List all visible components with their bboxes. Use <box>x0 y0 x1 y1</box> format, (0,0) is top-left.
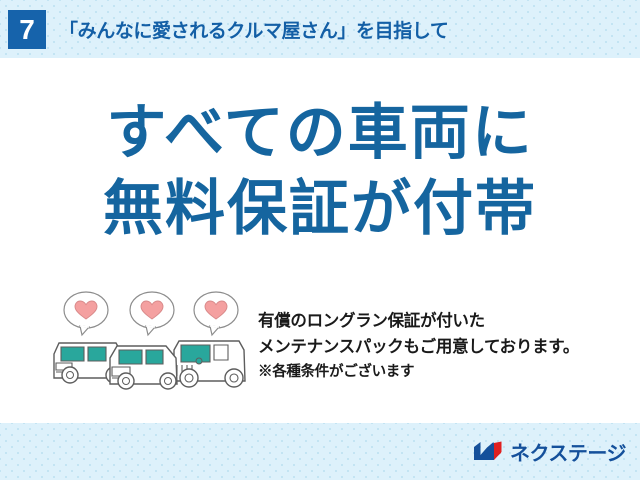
body-copy-block: 有償のロングラン保証が付いた メンテナンスパックもご用意しております。 ※各種条… <box>258 308 628 384</box>
heart-speech-bubble-1 <box>64 292 108 335</box>
step-number-badge: 7 <box>8 10 46 49</box>
brand-name: ネクステージ <box>510 437 626 466</box>
banner-header: 7 「みんなに愛されるクルマ屋さん」を目指して <box>0 0 640 58</box>
brand-logo: ネクステージ <box>473 437 626 465</box>
body-copy-note: ※各種条件がございます <box>258 360 628 384</box>
heart-speech-bubble-3 <box>194 292 238 335</box>
car-suv <box>174 341 245 387</box>
nexstage-n-mark-icon <box>473 440 503 462</box>
body-copy-line-1: 有償のロングラン保証が付いた <box>258 308 628 334</box>
headline-line-1: すべての車両に <box>0 95 640 171</box>
body-copy-line-2: メンテナンスパックもご用意しております。 <box>258 334 628 360</box>
heart-speech-bubble-2 <box>130 292 174 335</box>
car-compact-van <box>110 346 177 389</box>
headline-line-2: 無料保証が付帯 <box>0 171 640 247</box>
promo-banner: 7 「みんなに愛されるクルマ屋さん」を目指して すべての車両に 無料保証が付帯 <box>0 0 640 480</box>
headline-block: すべての車両に 無料保証が付帯 <box>0 95 640 247</box>
three-cars-with-heart-bubbles-illustration <box>48 288 253 400</box>
lower-section: 有償のロングラン保証が付いた メンテナンスパックもご用意しております。 ※各種条… <box>0 286 640 416</box>
header-title: 「みんなに愛されるクルマ屋さん」を目指して <box>59 16 448 43</box>
